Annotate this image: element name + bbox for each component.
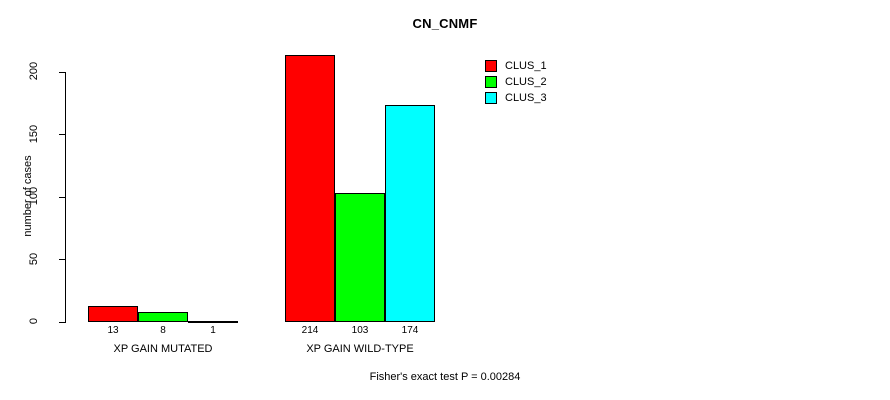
bar-value-label: 174 [385,325,435,336]
bar [385,105,435,323]
legend-item: CLUS_2 [485,74,605,89]
y-axis-tick-label: 150 [28,114,40,154]
legend-color-swatch-icon [485,76,497,88]
statistics-annotation: Fisher's exact test P = 0.00284 [0,371,890,383]
bar-value-label: 1 [188,325,238,336]
y-axis-tick [59,134,66,135]
y-axis-line [65,72,66,323]
y-axis-tick-label: 100 [28,176,40,216]
bar [188,321,238,323]
legend: CLUS_1CLUS_2CLUS_3 [485,58,605,106]
y-axis-tick [59,197,66,198]
legend-item: CLUS_3 [485,90,605,105]
bar [138,312,188,322]
legend-item-label: CLUS_1 [505,60,547,72]
bar [335,193,385,322]
bar-value-label: 214 [285,325,335,336]
legend-item: CLUS_1 [485,58,605,73]
x-axis-group-label: XP GAIN WILD-TYPE [285,343,435,355]
x-axis-group-label: XP GAIN MUTATED [88,343,238,355]
bar-value-label: 8 [138,325,188,336]
legend-color-swatch-icon [485,92,497,104]
y-axis-tick [59,322,66,323]
legend-item-label: CLUS_2 [505,76,547,88]
legend-color-swatch-icon [485,60,497,72]
bar [285,55,335,323]
y-axis-tick-label: 50 [28,239,40,279]
page-title: CN_CNMF [0,16,890,31]
y-axis-tick [59,259,66,260]
bar-value-label: 13 [88,325,138,336]
y-axis-tick-label: 200 [28,51,40,91]
y-axis-tick [59,72,66,73]
bar [88,306,138,322]
legend-item-label: CLUS_3 [505,92,547,104]
chart-canvas: CN_CNMF number of cases 050100150200 138… [0,0,890,400]
bar-value-label: 103 [335,325,385,336]
y-axis-tick-label: 0 [28,301,40,341]
